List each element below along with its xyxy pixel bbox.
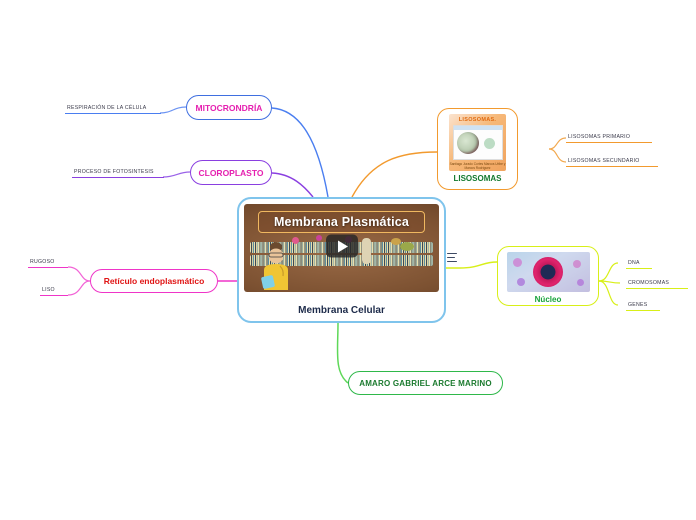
node-mitocondria-label: MITOCRONDRÍA (196, 103, 263, 113)
leaf-rugoso[interactable]: RUGOSO (28, 254, 68, 268)
leaf-lisosomas-secundario[interactable]: LISOSOMAS SECUNDARIO (566, 153, 658, 167)
lisosomas-thumbnail[interactable]: LISOSOMAS. Santiago Jurado Cortes Marcos… (449, 114, 506, 171)
play-icon[interactable] (326, 235, 358, 258)
leaf-cromosomas[interactable]: CROMOSOMAS (626, 275, 688, 289)
node-lisosomas[interactable]: LISOSOMAS. Santiago Jurado Cortes Marcos… (437, 108, 518, 190)
leaf-label: GENES (628, 302, 647, 308)
lisosomas-thumb-credit: Santiago Jurado Cortes Marcos Uribe y Ma… (449, 162, 506, 170)
lisosomas-thumb-title: LISOSOMAS. (459, 117, 497, 123)
leaf-genes[interactable]: GENES (626, 297, 660, 311)
node-autor[interactable]: AMARO GABRIEL ARCE MARINO (348, 371, 503, 395)
lisosomas-slide-image (453, 125, 503, 160)
nucleo-thumbnail[interactable] (507, 252, 590, 292)
node-autor-label: AMARO GABRIEL ARCE MARINO (359, 379, 492, 388)
node-reticulo-label: Retículo endoplasmático (104, 276, 205, 286)
node-nucleo[interactable]: Núcleo (497, 246, 599, 306)
nucleus-illustration (533, 257, 563, 287)
protein-dot (400, 242, 414, 251)
leaf-liso[interactable]: LISO (40, 282, 68, 296)
central-node-caption: Membrana Celular (239, 305, 444, 316)
node-cloroplasto[interactable]: CLOROPLASTO (190, 160, 272, 185)
video-thumbnail[interactable]: Membrana Plasmática (244, 204, 439, 292)
node-mitocondria[interactable]: MITOCRONDRÍA (186, 95, 272, 120)
node-nucleo-label: Núcleo (535, 295, 562, 304)
node-lisosomas-label: LISOSOMAS (453, 174, 501, 183)
leaf-label: LISO (42, 287, 55, 293)
character-illustration (256, 240, 298, 292)
leaf-dna[interactable]: DNA (626, 255, 652, 269)
leaf-label: DNA (628, 260, 640, 266)
channel-protein (362, 238, 371, 264)
video-title-overlay: Membrana Plasmática (258, 211, 425, 233)
mindmap-canvas: Membrana Plasmática Membrana Celular MIT… (0, 0, 696, 520)
node-cloroplasto-label: CLOROPLASTO (198, 168, 263, 178)
leaf-lisosomas-primario[interactable]: LISOSOMAS PRIMARIO (566, 129, 652, 143)
central-node-membrana-plasmatica[interactable]: Membrana Plasmática Membrana Celular (237, 197, 446, 323)
leaf-respiracion-de-la-celula[interactable]: RESPIRACIÓN DE LA CÉLULA (65, 100, 161, 114)
leaf-label: LISOSOMAS PRIMARIO (568, 134, 630, 140)
protein-dot (316, 235, 322, 241)
node-reticulo-endoplasmatico[interactable]: Retículo endoplasmático (90, 269, 218, 293)
leaf-proceso-de-fotosintesis[interactable]: PROCESO DE FOTOSINTESIS (72, 164, 164, 178)
leaf-label: RESPIRACIÓN DE LA CÉLULA (67, 105, 147, 111)
list-icon[interactable] (447, 253, 457, 262)
leaf-label: CROMOSOMAS (628, 280, 669, 286)
leaf-label: PROCESO DE FOTOSINTESIS (74, 169, 154, 175)
leaf-label: LISOSOMAS SECUNDARIO (568, 158, 640, 164)
leaf-label: RUGOSO (30, 259, 55, 265)
